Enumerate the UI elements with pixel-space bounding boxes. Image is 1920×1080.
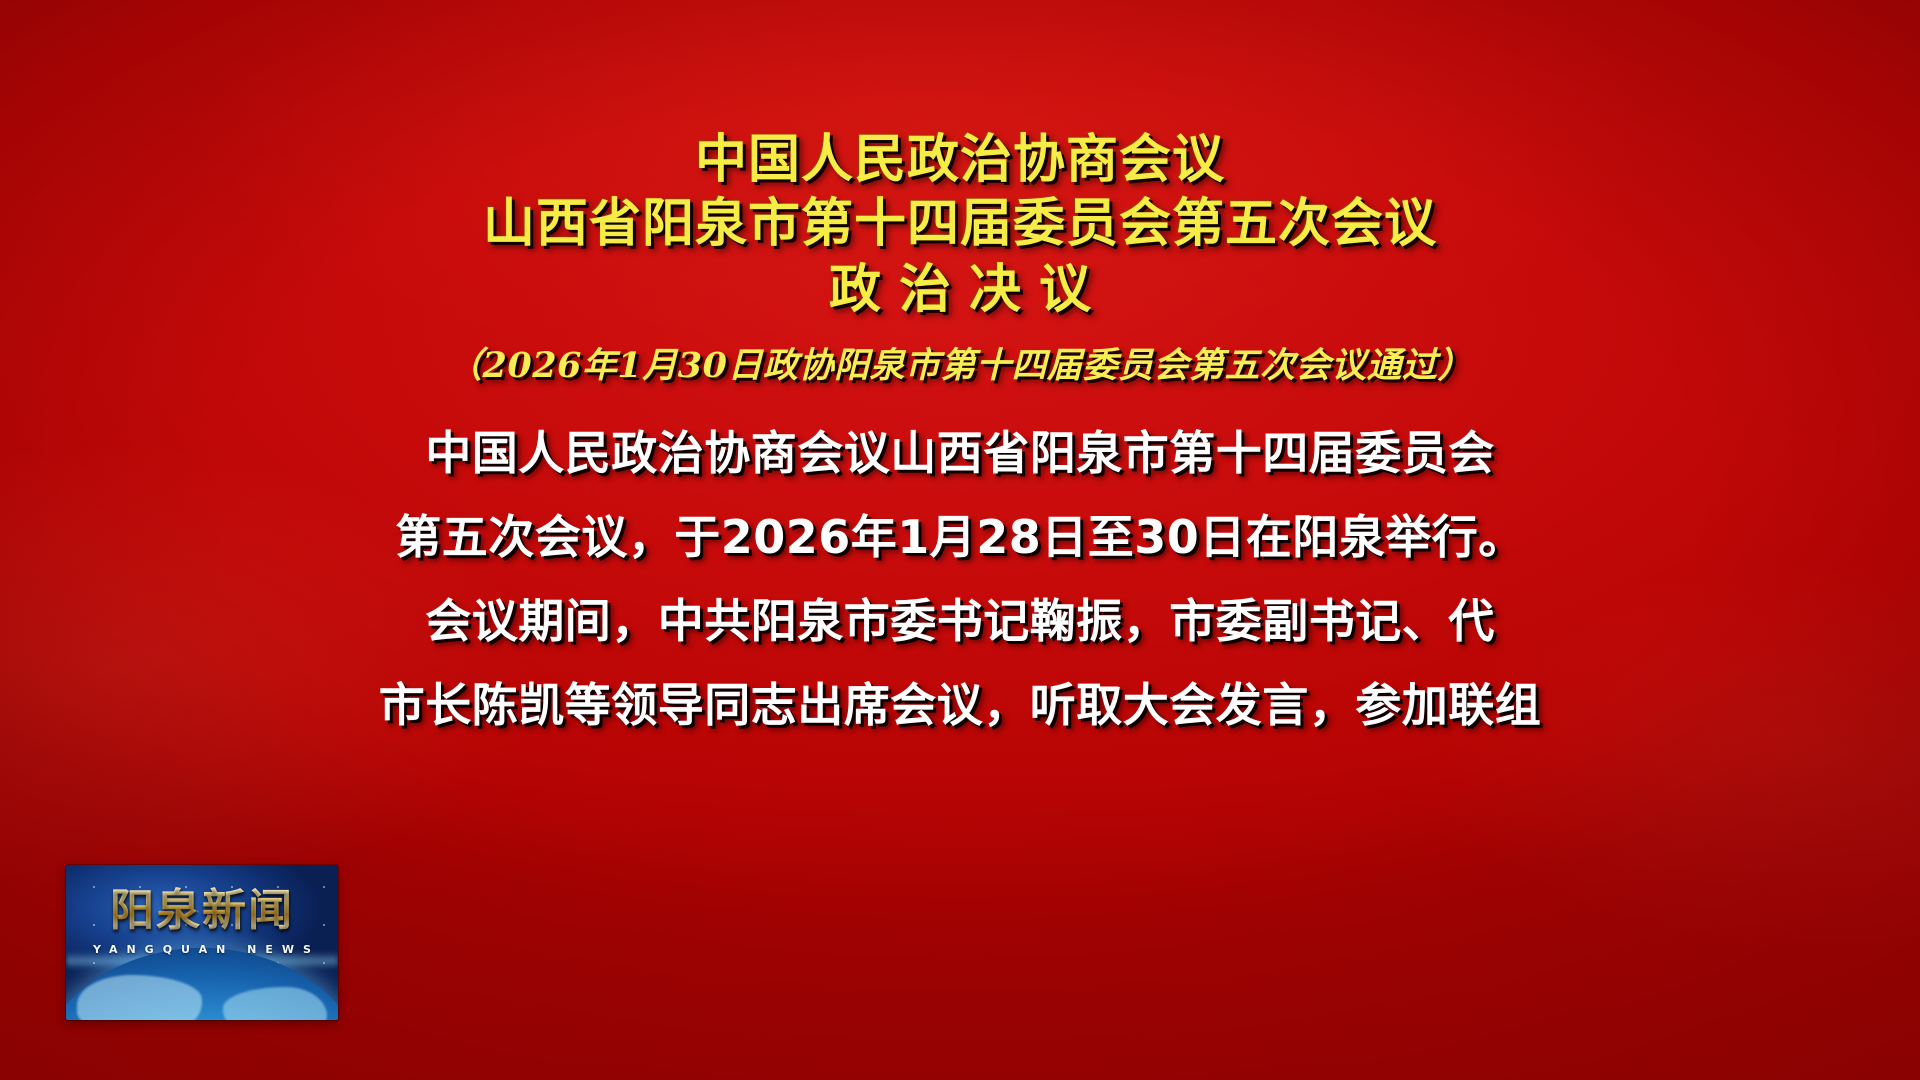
headline-line-1: 中国人民政治协商会议 (483, 128, 1437, 192)
station-logo-bug: 阳泉新闻 YANGQUAN NEWS (66, 865, 338, 1020)
body-line: 中国人民政治协商会议山西省阳泉市第十四届委员会 (425, 414, 1495, 492)
headline-line-2: 山西省阳泉市第十四届委员会第五次会议 (483, 192, 1437, 256)
body-line: 市长陈凯等领导同志出席会议，听取大会发言，参加联组 (379, 666, 1542, 744)
body-copy: 中国人民政治协商会议山西省阳泉市第十四届委员会 第五次会议，于2026年1月28… (230, 414, 1690, 744)
body-line: 第五次会议，于2026年1月28日至30日在阳泉举行。 (395, 498, 1525, 576)
adoption-note: （2026年1月30日政协阳泉市第十四届委员会第五次会议通过） (447, 344, 1473, 388)
logo-subtitle: YANGQUAN NEWS (66, 943, 338, 956)
logo-title: 阳泉新闻 (66, 885, 338, 937)
broadcast-screen: 中国人民政治协商会议 山西省阳泉市第十四届委员会第五次会议 政治决议 （2026… (0, 0, 1920, 1080)
headline-block: 中国人民政治协商会议 山西省阳泉市第十四届委员会第五次会议 政治决议 (483, 128, 1437, 322)
headline-line-3: 政治决议 (483, 258, 1437, 322)
body-line: 会议期间，中共阳泉市委书记鞠振，市委副书记、代 (425, 582, 1495, 660)
